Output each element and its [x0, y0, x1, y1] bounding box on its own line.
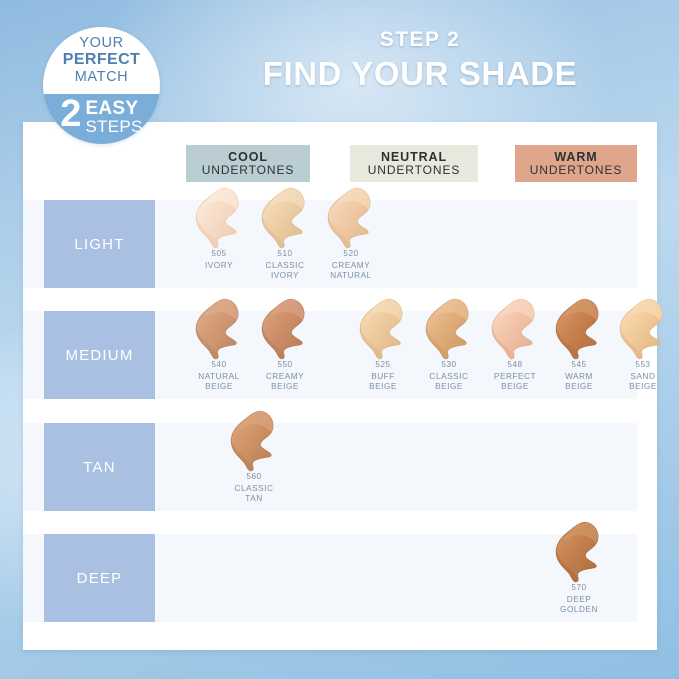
shade-swatch-510[interactable]: 510CLASSIC IVORY [253, 187, 317, 282]
badge-step-words: EASY STEPS [85, 97, 142, 135]
category-label-deep: DEEP [44, 534, 155, 622]
undertone-name-warm: WARM [554, 151, 597, 164]
undertone-sub-warm: UNDERTONES [530, 164, 623, 177]
undertone-name-neutral: NEUTRAL [381, 151, 447, 164]
shade-swatch-540[interactable]: 540NATURAL BEIGE [187, 298, 251, 393]
shade-name-548: PERFECT BEIGE [483, 372, 547, 393]
swatch-blob [359, 298, 407, 360]
undertone-header-neutral: NEUTRAL UNDERTONES [350, 145, 478, 182]
shade-swatch-545[interactable]: 545WARM BEIGE [547, 298, 611, 393]
shade-name-505: IVORY [187, 261, 251, 272]
shade-code-530: 530 [417, 360, 481, 371]
category-label-tan: TAN [44, 423, 155, 511]
undertone-header-warm: WARM UNDERTONES [515, 145, 637, 182]
undertone-sub-neutral: UNDERTONES [368, 164, 461, 177]
page-header: STEP 2 FIND YOUR SHADE [180, 28, 660, 93]
shade-swatch-550[interactable]: 550CREAMY BEIGE [253, 298, 317, 393]
step-label: STEP 2 [180, 28, 660, 52]
perfect-match-badge: YOUR PERFECT MATCH 2 EASY STEPS [43, 27, 160, 144]
shade-code-540: 540 [187, 360, 251, 371]
shade-code-550: 550 [253, 360, 317, 371]
swatch-blob [261, 187, 309, 249]
shade-code-548: 548 [483, 360, 547, 371]
undertone-name-cool: COOL [228, 151, 268, 164]
shade-code-510: 510 [253, 249, 317, 260]
swatch-blob [425, 298, 473, 360]
swatch-blob [195, 298, 243, 360]
swatch-blob [555, 521, 603, 583]
shade-code-570: 570 [547, 583, 611, 594]
shade-code-520: 520 [319, 249, 383, 260]
shade-code-505: 505 [187, 249, 251, 260]
shade-swatch-525[interactable]: 525BUFF BEIGE [351, 298, 415, 393]
swatch-blob [555, 298, 603, 360]
badge-word-easy: EASY [85, 99, 142, 118]
shade-name-560: CLASSIC TAN [222, 484, 286, 505]
badge-line-match: MATCH [75, 69, 128, 85]
badge-word-steps: STEPS [85, 118, 142, 135]
shade-name-540: NATURAL BEIGE [187, 372, 251, 393]
shade-swatch-548[interactable]: 548PERFECT BEIGE [483, 298, 547, 393]
page-title: FIND YOUR SHADE [180, 55, 660, 93]
shade-swatch-520[interactable]: 520CREAMY NATURAL [319, 187, 383, 282]
shade-name-553: SAND BEIGE [611, 372, 675, 393]
shade-swatch-570[interactable]: 570DEEP GOLDEN [547, 521, 611, 616]
badge-step-number: 2 [60, 97, 81, 132]
swatch-blob [619, 298, 667, 360]
shade-name-520: CREAMY NATURAL [319, 261, 383, 282]
shade-name-570: DEEP GOLDEN [547, 595, 611, 616]
shade-name-530: CLASSIC BEIGE [417, 372, 481, 393]
category-label-light: LIGHT [44, 200, 155, 288]
shade-name-525: BUFF BEIGE [351, 372, 415, 393]
shade-name-550: CREAMY BEIGE [253, 372, 317, 393]
badge-top-section: YOUR PERFECT MATCH [43, 27, 160, 94]
undertone-header-cool: COOL UNDERTONES [186, 145, 310, 182]
badge-line-perfect: PERFECT [63, 51, 140, 69]
swatch-blob [261, 298, 309, 360]
badge-line-your: YOUR [79, 35, 123, 51]
shade-swatch-560[interactable]: 560CLASSIC TAN [222, 410, 286, 505]
category-label-medium: MEDIUM [44, 311, 155, 399]
swatch-blob [230, 410, 278, 472]
shade-swatch-530[interactable]: 530CLASSIC BEIGE [417, 298, 481, 393]
swatch-blob [195, 187, 243, 249]
shade-code-545: 545 [547, 360, 611, 371]
swatch-blob [491, 298, 539, 360]
shade-swatch-553[interactable]: 553SAND BEIGE [611, 298, 675, 393]
shade-finder-card: COOL UNDERTONES NEUTRAL UNDERTONES WARM … [23, 122, 657, 650]
shade-swatch-505[interactable]: 505IVORY [187, 187, 251, 271]
badge-bottom-section: 2 EASY STEPS [43, 94, 160, 144]
shade-code-525: 525 [351, 360, 415, 371]
shade-name-510: CLASSIC IVORY [253, 261, 317, 282]
shade-code-553: 553 [611, 360, 675, 371]
undertone-sub-cool: UNDERTONES [202, 164, 295, 177]
shade-code-560: 560 [222, 472, 286, 483]
swatch-blob [327, 187, 375, 249]
shade-name-545: WARM BEIGE [547, 372, 611, 393]
